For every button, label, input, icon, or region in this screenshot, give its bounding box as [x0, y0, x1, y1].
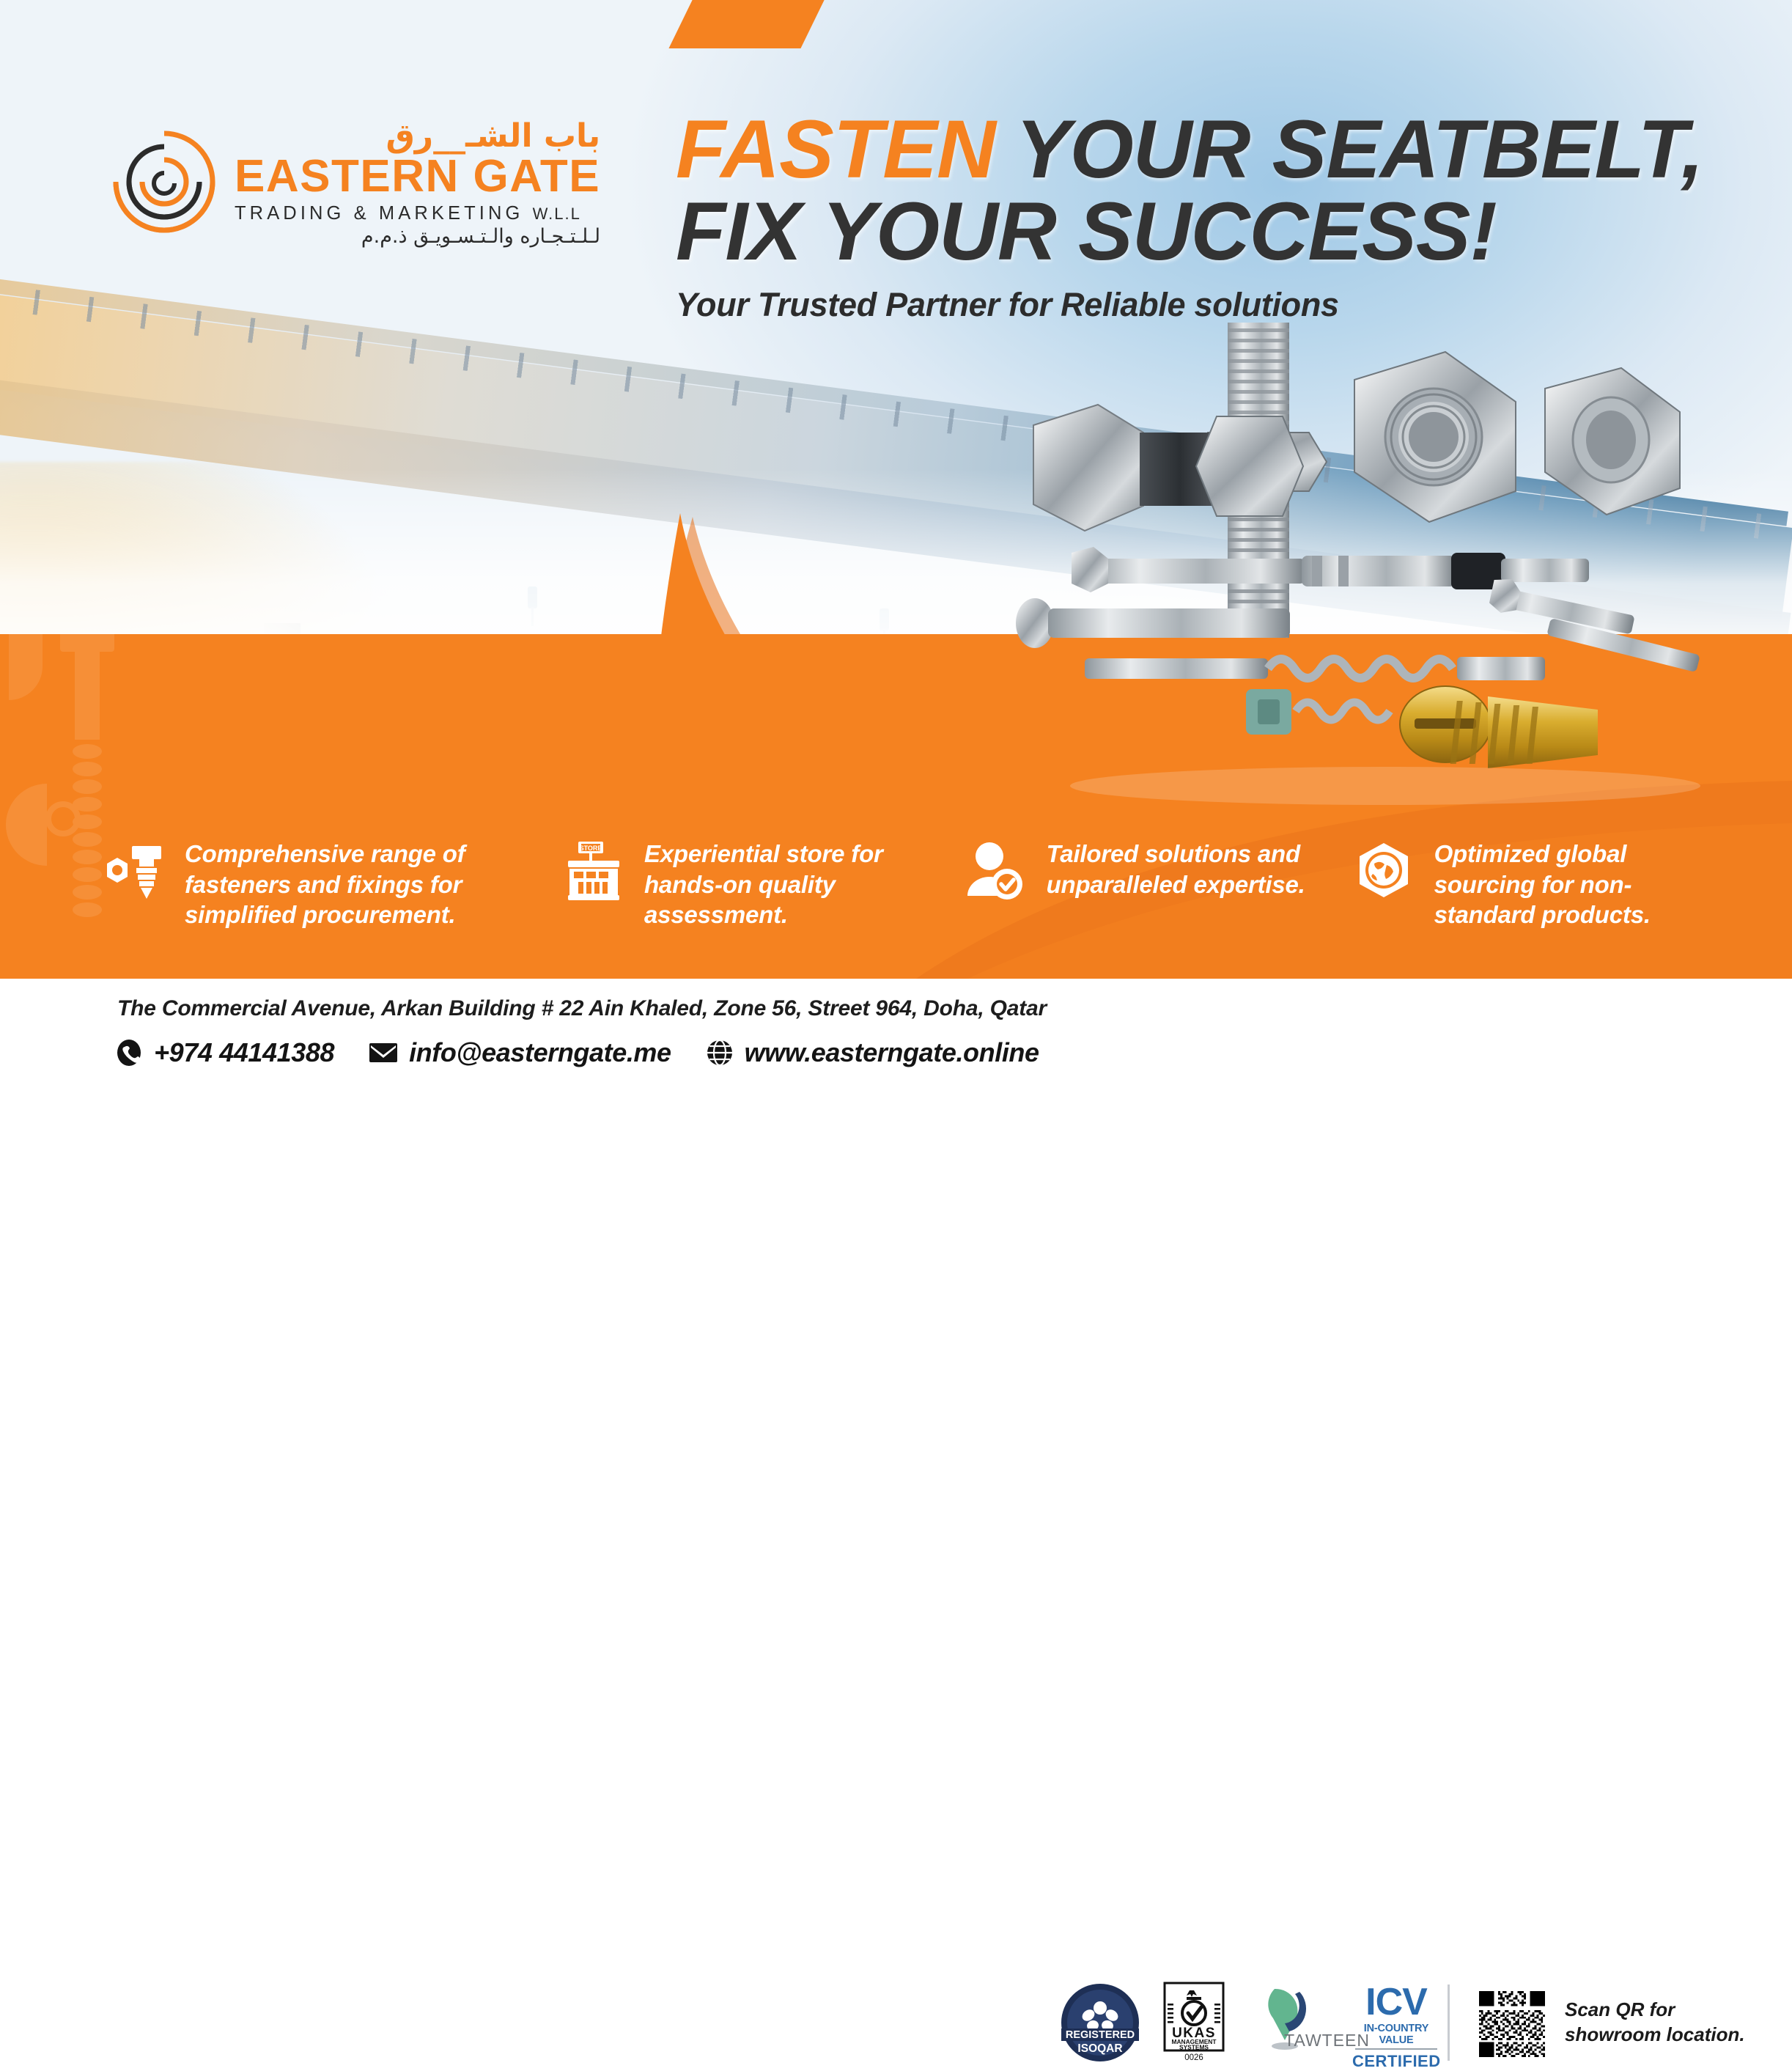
fasteners-product-photo [901, 323, 1730, 806]
certification-badges: REGISTERED ISOQAR [1059, 1982, 1371, 2064]
feature-list: Comprehensive range of fasteners and fix… [0, 836, 1792, 975]
logo-tagline-main: TRADING & MARKETING [235, 203, 523, 224]
email-icon [368, 1041, 399, 1064]
ukas-number-label: 0026 [1184, 2053, 1203, 2062]
logo-tagline-suffix: W.L.L [533, 205, 581, 223]
coil-spring-anchor [1085, 657, 1545, 680]
globe-icon [705, 1038, 734, 1067]
hex-globe-icon [1352, 836, 1415, 906]
eastern-gate-spiral-icon [110, 128, 218, 236]
store-building-icon: STORE [562, 836, 625, 906]
ukas-line2-label: SYSTEMS [1179, 2044, 1209, 2051]
feature-item: Tailored solutions and unparalleled expe… [965, 836, 1352, 906]
logo-arabic-name: باب الشـ__رق [235, 120, 600, 152]
qr-instruction-text: Scan QR for showroom location. [1565, 1998, 1763, 2048]
ukas-badge: UKAS MANAGEMENT SYSTEMS 0026 [1160, 1982, 1228, 2064]
headline-line1-rest: YOUR SEATBELT, [1016, 103, 1703, 195]
address-text: The Commercial Avenue, Arkan Building # … [117, 996, 1047, 1021]
feature-text: Tailored solutions and unparalleled expe… [1047, 836, 1352, 900]
email-address: info@easterngate.me [409, 1037, 671, 1068]
feature-item: Comprehensive range of fasteners and fix… [103, 836, 562, 930]
store-sign-label: STORE [580, 845, 602, 852]
feature-text: Comprehensive range of fasteners and fix… [185, 836, 562, 930]
page-title: FASTEN YOUR SEATBELT, FIX YOUR SUCCESS! [676, 108, 1717, 273]
email-contact[interactable]: info@easterngate.me [368, 1037, 671, 1068]
logo-tagline: TRADING & MARKETING W.L.L [235, 205, 600, 224]
icv-badge: ICV IN-COUNTRY VALUE CERTIFIED [1352, 1984, 1440, 2071]
phone-number: +974 44141388 [154, 1037, 334, 1068]
isoqar-registered-label: REGISTERED [1066, 2029, 1135, 2041]
feature-item: Optimized global sourcing for non-standa… [1352, 836, 1689, 930]
headline-accent-word: FASTEN [676, 103, 995, 195]
headline-line2: FIX YOUR SUCCESS! [676, 185, 1497, 277]
footer-divider [1448, 1984, 1450, 2061]
feature-item: STORE Experiential store for hands-on qu… [562, 836, 965, 930]
icv-sub-label: IN-COUNTRY VALUE [1352, 2023, 1440, 2046]
icv-main-label: ICV [1352, 1984, 1440, 2020]
phone-icon [114, 1038, 144, 1067]
icv-certified-label: CERTIFIED [1352, 2052, 1440, 2071]
large-hex-nut [1354, 352, 1516, 522]
logo-arabic-tagline: لـلـتـجـاره والـتـسـويـق ذ.م.م [235, 227, 600, 246]
company-logo[interactable]: باب الشـ__رق EASTERN GATE TRADING & MARK… [110, 117, 600, 246]
feature-text: Optimized global sourcing for non-standa… [1434, 836, 1689, 930]
qr-label-line1: Scan QR for [1565, 1998, 1675, 2020]
spring-clip-assembly [1246, 689, 1390, 735]
brass-slotted-screw [1400, 686, 1598, 768]
isoqar-badge: REGISTERED ISOQAR [1059, 1982, 1141, 2064]
qr-code[interactable] [1477, 1989, 1547, 2059]
phone-contact[interactable]: +974 44141388 [114, 1037, 334, 1068]
feature-text: Experiential store for hands-on quality … [644, 836, 965, 930]
qr-label-line2: showroom location. [1565, 2023, 1745, 2045]
website-url: www.easterngate.online [745, 1037, 1039, 1068]
hex-bolt-with-nut [1033, 405, 1303, 531]
top-orange-accent-shape [668, 0, 826, 48]
isoqar-name-label: ISOQAR [1077, 2042, 1122, 2055]
right-hex-nut [1545, 368, 1680, 515]
bolt-nut-icon [103, 836, 166, 906]
icv-divider [1355, 2048, 1437, 2050]
contact-row: +974 44141388 info@easterngate.me www.ea… [114, 1037, 1039, 1068]
website-contact[interactable]: www.easterngate.online [705, 1037, 1039, 1068]
footer-bar: The Commercial Avenue, Arkan Building # … [0, 979, 1792, 1091]
logo-company-name: EASTERN GATE [235, 154, 600, 199]
page-subtitle: Your Trusted Partner for Reliable soluti… [676, 286, 1629, 324]
person-check-icon [965, 836, 1028, 906]
